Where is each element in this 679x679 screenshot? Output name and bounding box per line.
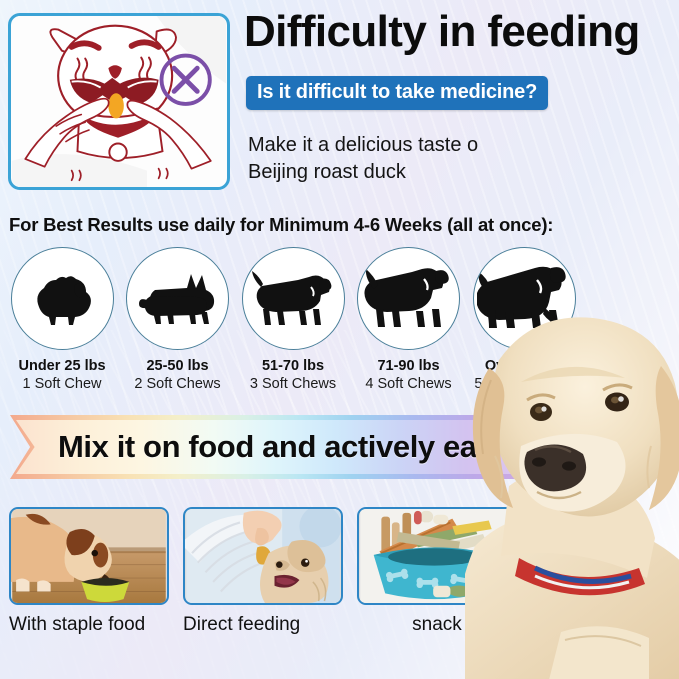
dosage-chews: 5-6 Soft Chews xyxy=(474,376,573,392)
large-dog-silhouette-icon xyxy=(477,264,571,334)
usage-item: snack xyxy=(357,507,517,636)
dosage-item: 25-50 lbs 2 Soft Chews xyxy=(124,247,232,397)
dosage-circle xyxy=(11,247,114,350)
hand-feeding-poodle-treat-photo xyxy=(183,507,343,605)
dosage-circle xyxy=(242,247,345,350)
dosage-chews: 2 Soft Chews xyxy=(134,376,220,392)
labrador-silhouette-icon xyxy=(364,265,454,333)
dosage-item: 51-70 lbs 3 Soft Chews xyxy=(239,247,347,397)
usage-item: Direct feeding xyxy=(183,507,343,636)
dosage-item: Over 90 lbs 5-6 Soft Chews xyxy=(470,247,578,397)
subtitle-text: Make it a delicious taste o Beijing roas… xyxy=(248,132,578,186)
dosage-item: Under 25 lbs 1 Soft Chew xyxy=(8,247,116,397)
dosage-chews: 1 Soft Chew xyxy=(23,376,102,392)
medium-dog-silhouette-icon xyxy=(249,267,337,331)
usage-photo-row: With staple food xyxy=(9,507,529,677)
subtitle-line-1: Make it a delicious taste o xyxy=(248,132,578,159)
teal-bowl-with-chew-treats-photo xyxy=(357,507,517,605)
banner-text: Mix it on food and actively eat xyxy=(58,415,487,479)
beagle-eating-from-bowl-photo xyxy=(9,507,169,605)
dosage-weight: 51-70 lbs xyxy=(262,358,324,374)
dosage-weight: 25-50 lbs xyxy=(146,358,208,374)
dosage-weight: Over 90 lbs xyxy=(485,358,563,374)
dosage-weight: 71-90 lbs xyxy=(377,358,439,374)
dosage-weight: Under 25 lbs xyxy=(18,358,105,374)
dosage-chews: 4 Soft Chews xyxy=(365,376,451,392)
dosage-circle xyxy=(473,247,576,350)
dosage-circle xyxy=(126,247,229,350)
usage-caption: Direct feeding xyxy=(183,614,343,636)
dog-refusing-medicine-illustration xyxy=(8,13,230,190)
small-dog-silhouette-icon xyxy=(25,271,99,327)
usage-item: With staple food xyxy=(9,507,169,636)
infographic-root: Difficulty in feeding Is it difficult to… xyxy=(0,0,679,679)
dosage-chews: 3 Soft Chews xyxy=(250,376,336,392)
dosage-heading: For Best Results use daily for Minimum 4… xyxy=(9,214,553,236)
page-title: Difficulty in feeding xyxy=(244,6,679,58)
usage-caption: With staple food xyxy=(9,614,169,636)
dosage-item: 71-90 lbs 4 Soft Chews xyxy=(355,247,463,397)
dosage-row: Under 25 lbs 1 Soft Chew 25-50 lbs 2 Sof… xyxy=(8,247,578,397)
subtitle-line-2: Beijing roast duck xyxy=(248,159,578,186)
mix-on-food-banner: Mix it on food and actively eat xyxy=(10,415,570,479)
corgi-silhouette-icon xyxy=(137,268,219,330)
dosage-circle xyxy=(357,247,460,350)
question-badge: Is it difficult to take medicine? xyxy=(246,76,548,110)
usage-caption: snack xyxy=(357,614,517,636)
